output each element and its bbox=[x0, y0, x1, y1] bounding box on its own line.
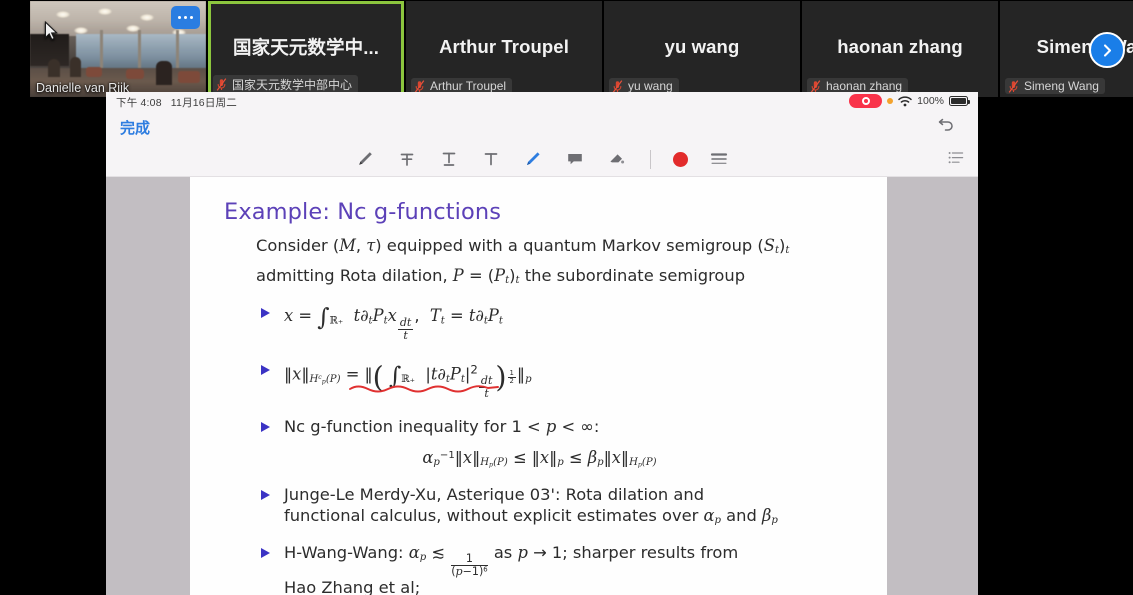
zoom-meeting-window: Danielle van Rijk 国家天元数学中... 国家天元数学中部中心 … bbox=[0, 0, 1133, 595]
slide-bullet-2: ‖x‖Hcp(P) = ‖( ∫ℝ₊ |t∂tPt|2dtt)12‖p bbox=[256, 359, 871, 399]
highlighter-tool[interactable] bbox=[354, 148, 376, 170]
slide-centered-equation: αp−1‖x‖Hp(P) ≤ ‖x‖p ≤ βp‖x‖Hp(P) bbox=[208, 448, 871, 469]
list-outline-icon bbox=[948, 151, 964, 165]
eraser-icon bbox=[607, 149, 627, 169]
annotation-toolbar bbox=[106, 142, 978, 177]
participant-tile-tianyuan[interactable]: 国家天元数学中... 国家天元数学中部中心 bbox=[208, 1, 404, 97]
undo-arrow-icon bbox=[938, 116, 956, 132]
battery-full-icon bbox=[949, 96, 968, 106]
line-weight-button[interactable] bbox=[708, 148, 730, 170]
participant-footer-name: 国家天元数学中部中心 bbox=[232, 76, 352, 93]
text-icon bbox=[481, 149, 501, 169]
participant-footer-name: haonan zhang bbox=[826, 79, 902, 93]
participant-display-name: 国家天元数学中... bbox=[233, 34, 379, 60]
participant-footer-name: Simeng Wang bbox=[1024, 79, 1099, 93]
status-time: 下午 4:08 bbox=[116, 95, 162, 110]
done-button[interactable]: 完成 bbox=[120, 117, 150, 138]
slide-bullet-3: Nc g-function inequality for 1 < p < ∞: bbox=[256, 416, 871, 437]
participant-tile-haonan-zhang[interactable]: haonan zhang haonan zhang bbox=[802, 1, 998, 97]
slide-intro-line-2: admitting Rota dilation, P = (Pt)t the s… bbox=[256, 266, 871, 288]
mouse-cursor-icon bbox=[44, 21, 58, 41]
pen-tool[interactable] bbox=[522, 148, 544, 170]
slide-bullet-list: x = ∫ℝ₊ t∂tPtxdtt, Tt = t∂tPt ‖x‖Hcp(P) … bbox=[256, 302, 871, 437]
underline-tool[interactable] bbox=[438, 148, 460, 170]
participant-footer-name: yu wang bbox=[628, 79, 673, 93]
underline-text-icon bbox=[439, 149, 459, 169]
mic-muted-icon bbox=[1008, 80, 1019, 93]
highlighter-icon bbox=[355, 149, 375, 169]
slide-bullet-1: x = ∫ℝ₊ t∂tPtxdtt, Tt = t∂tPt bbox=[256, 302, 871, 341]
color-swatch-red[interactable] bbox=[673, 152, 688, 167]
note-tool[interactable] bbox=[564, 148, 586, 170]
mic-muted-icon bbox=[216, 78, 227, 91]
squiggle-annotation-icon bbox=[348, 381, 500, 395]
shared-screen-ipad: 下午 4:08 11月16日周二 100% 完成 bbox=[106, 92, 978, 595]
mic-muted-icon bbox=[414, 80, 425, 93]
comment-box-icon bbox=[565, 149, 585, 169]
toolbar-divider bbox=[650, 150, 651, 169]
ios-status-bar: 下午 4:08 11月16日周二 100% bbox=[106, 92, 978, 112]
participant-footer: Simeng Wang bbox=[1005, 78, 1105, 94]
participant-display-name: yu wang bbox=[665, 36, 740, 58]
orange-privacy-dot-icon bbox=[887, 98, 893, 104]
battery-percent-label: 100% bbox=[917, 95, 944, 107]
slide-bullet-list-2: Junge-Le Merdy-Xu, Asterique 03': Rota d… bbox=[256, 484, 871, 595]
next-participants-button[interactable] bbox=[1089, 32, 1125, 68]
document-canvas[interactable]: Example: Nc g-functions Consider (M, τ) … bbox=[106, 177, 978, 595]
participant-footer-name: Arthur Troupel bbox=[430, 79, 506, 93]
mic-muted-icon bbox=[810, 80, 821, 93]
participant-tile-yu-wang[interactable]: yu wang yu wang bbox=[604, 1, 800, 97]
mic-muted-icon bbox=[612, 80, 623, 93]
slide-title: Example: Nc g-functions bbox=[224, 199, 871, 225]
wifi-icon bbox=[898, 96, 912, 107]
outline-button[interactable] bbox=[948, 151, 964, 170]
undo-button[interactable] bbox=[938, 116, 956, 137]
strikethrough-text-icon bbox=[397, 149, 417, 169]
slide-bullet-5: H-Wang-Wang: αp ≲ 1(p−1)6 as p → 1; shar… bbox=[256, 542, 871, 595]
chevron-right-icon bbox=[1099, 42, 1116, 59]
slide-bullet-4: Junge-Le Merdy-Xu, Asterique 03': Rota d… bbox=[256, 484, 871, 528]
line-weight-icon bbox=[710, 151, 728, 167]
blue-pen-icon bbox=[523, 149, 543, 169]
ipad-navigation-bar: 完成 bbox=[106, 112, 978, 142]
slide-intro-line-1: Consider (M, τ) equipped with a quantum … bbox=[256, 236, 871, 258]
status-date: 11月16日周二 bbox=[171, 95, 237, 110]
strikethrough-tool[interactable] bbox=[396, 148, 418, 170]
participant-filmstrip: Danielle van Rijk 国家天元数学中... 国家天元数学中部中心 … bbox=[0, 0, 1133, 98]
eraser-tool[interactable] bbox=[606, 148, 628, 170]
participant-display-name: Arthur Troupel bbox=[439, 36, 569, 58]
participant-display-name: haonan zhang bbox=[837, 36, 963, 58]
text-tool[interactable] bbox=[480, 148, 502, 170]
participant-tile-arthur-troupel[interactable]: Arthur Troupel Arthur Troupel bbox=[406, 1, 602, 97]
more-options-button[interactable] bbox=[171, 6, 200, 29]
slide-page[interactable]: Example: Nc g-functions Consider (M, τ) … bbox=[190, 177, 887, 595]
participant-tile-video[interactable]: Danielle van Rijk bbox=[30, 1, 206, 97]
screen-recording-icon bbox=[849, 94, 882, 108]
